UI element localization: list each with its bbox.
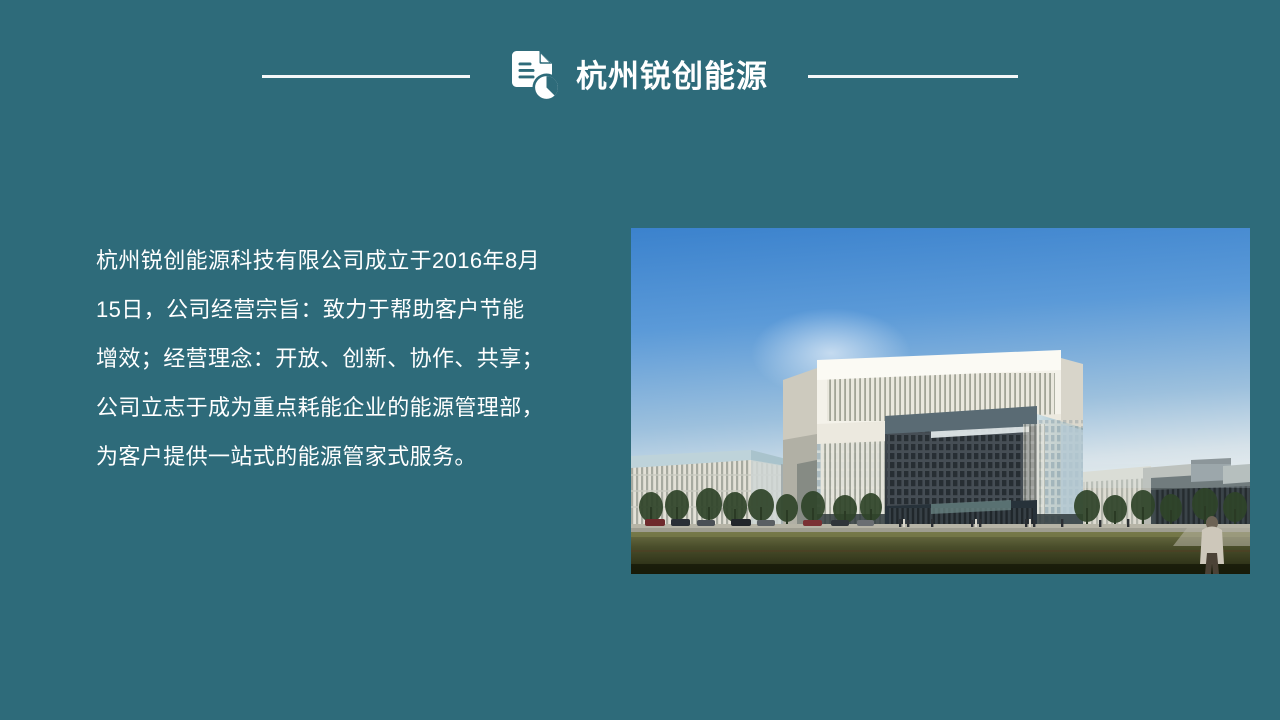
description-line: 公司立志于成为重点耗能企业的能源管理部， bbox=[96, 383, 596, 432]
office-building-rendering bbox=[631, 228, 1250, 574]
description-line: 增效；经营理念：开放、创新、协作、共享； bbox=[96, 334, 596, 383]
presentation-slide: 杭州锐创能源 杭州锐创能源科技有限公司成立于2016年8月 15日，公司经营宗旨… bbox=[0, 0, 1280, 720]
description-line: 为客户提供一站式的能源管家式服务。 bbox=[96, 432, 596, 481]
company-description: 杭州锐创能源科技有限公司成立于2016年8月 15日，公司经营宗旨：致力于帮助客… bbox=[96, 236, 596, 481]
slide-header: 杭州锐创能源 bbox=[0, 48, 1280, 104]
brand-lockup: 杭州锐创能源 bbox=[508, 50, 768, 102]
document-chart-icon bbox=[508, 50, 560, 102]
decorative-rule-left bbox=[262, 75, 470, 78]
brand-title: 杭州锐创能源 bbox=[576, 61, 768, 92]
description-line: 15日，公司经营宗旨：致力于帮助客户节能 bbox=[96, 285, 596, 334]
decorative-rule-right bbox=[808, 75, 1018, 78]
description-line: 杭州锐创能源科技有限公司成立于2016年8月 bbox=[96, 236, 596, 285]
